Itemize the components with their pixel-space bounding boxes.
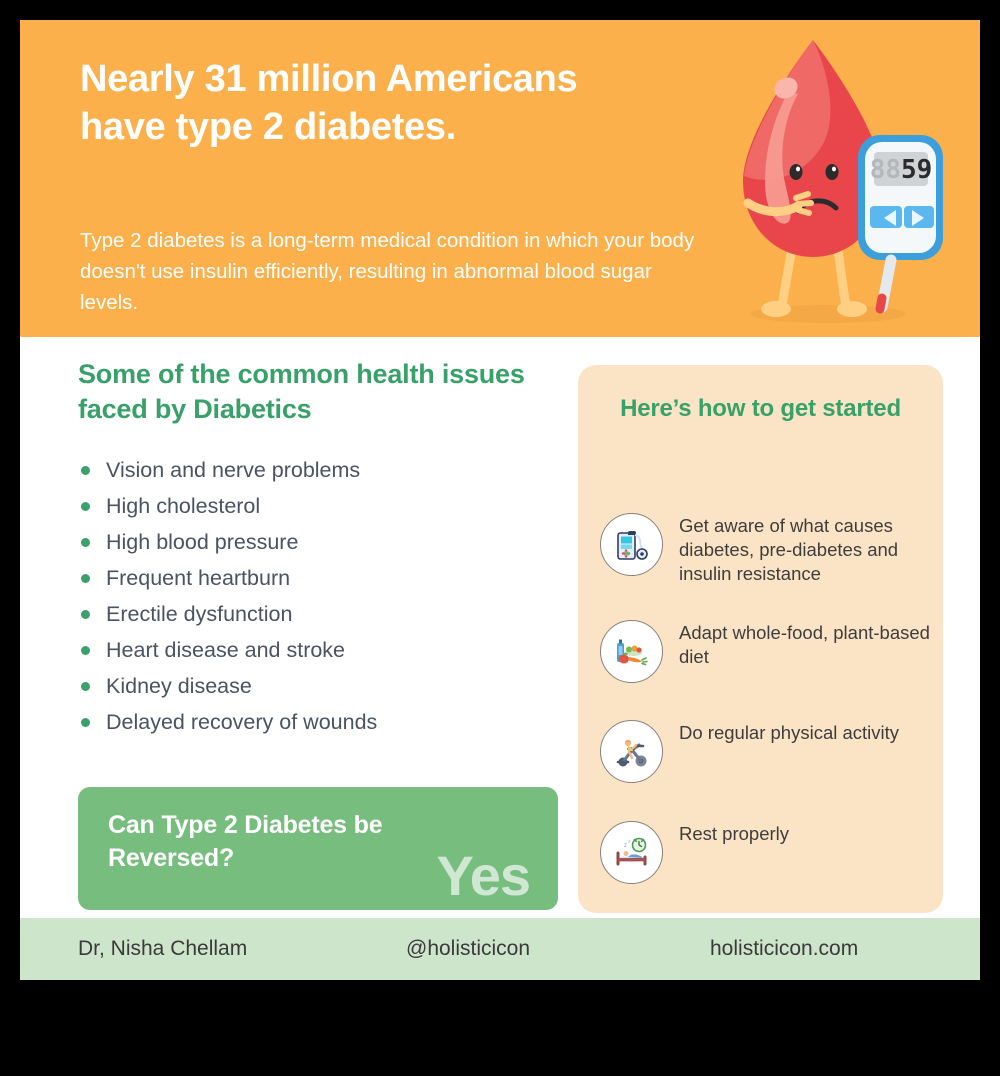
common-issues-section: Some of the common health issues faced b… (78, 357, 578, 740)
exercise-bike-icon (600, 720, 663, 783)
list-item: Do regular physical activity (600, 720, 930, 783)
step-label: Rest properly (679, 821, 789, 846)
list-item-label: Heart disease and stroke (106, 638, 345, 662)
list-item: Kidney disease (78, 668, 578, 704)
list-item-label: Kidney disease (106, 674, 252, 698)
svg-text:z: z (628, 839, 631, 845)
list-item-label: Frequent heartburn (106, 566, 290, 590)
list-item: Delayed recovery of wounds (78, 704, 578, 740)
step-label: Get aware of what causes diabetes, pre-d… (679, 513, 930, 586)
bullet-dot-icon (81, 502, 90, 511)
footer-social-handle[interactable]: @holisticicon (406, 937, 530, 961)
list-item: z z Rest properly (600, 821, 930, 884)
footer-bar: Dr, Nisha Chellam @holisticicon holistic… (20, 918, 980, 980)
get-started-panel: Here’s how to get started (578, 365, 943, 913)
vegetables-water-icon (600, 620, 663, 683)
bullet-dot-icon (81, 718, 90, 727)
bullet-dot-icon (81, 682, 90, 691)
list-item: Heart disease and stroke (78, 632, 578, 668)
page-title: Nearly 31 million Americans have type 2 … (80, 55, 640, 152)
list-item: Erectile dysfunction (78, 596, 578, 632)
header-banner: Nearly 31 million Americans have type 2 … (20, 20, 980, 337)
list-item-label: High cholesterol (106, 494, 260, 518)
issues-list: Vision and nerve problems High cholester… (78, 452, 578, 740)
blood-drop-character-illustration: 8859 (710, 26, 980, 337)
sleeping-person-clock-icon: z z (600, 821, 663, 884)
bullet-dot-icon (81, 574, 90, 583)
list-item: Frequent heartburn (78, 560, 578, 596)
glucose-monitor-icon (600, 513, 663, 576)
list-item: High blood pressure (78, 524, 578, 560)
header-subtitle: Type 2 diabetes is a long-term medical c… (80, 225, 710, 318)
bullet-dot-icon (81, 610, 90, 619)
step-label: Adapt whole-food, plant-based diet (679, 620, 930, 669)
bullet-dot-icon (81, 646, 90, 655)
list-item-label: High blood pressure (106, 530, 298, 554)
list-item: Adapt whole-food, plant-based diet (600, 620, 930, 683)
footer-author: Dr, Nisha Chellam (78, 937, 247, 961)
list-item-label: Erectile dysfunction (106, 602, 292, 626)
svg-text:z: z (624, 843, 627, 849)
infographic-card: Nearly 31 million Americans have type 2 … (20, 20, 980, 980)
panel-heading-get-started: Here’s how to get started (608, 393, 913, 425)
reversal-answer: Yes (436, 848, 530, 904)
reversal-callout-box: Can Type 2 Diabetes be Reversed? Yes (78, 787, 558, 910)
section-heading-issues: Some of the common health issues faced b… (78, 357, 538, 427)
step-label: Do regular physical activity (679, 720, 899, 745)
list-item-label: Vision and nerve problems (106, 458, 360, 482)
list-item: Get aware of what causes diabetes, pre-d… (600, 513, 930, 586)
bullet-dot-icon (81, 466, 90, 475)
svg-text:8859: 8859 (870, 155, 933, 185)
list-item-label: Delayed recovery of wounds (106, 710, 377, 734)
bullet-dot-icon (81, 538, 90, 547)
list-item: Vision and nerve problems (78, 452, 578, 488)
list-item: High cholesterol (78, 488, 578, 524)
footer-website[interactable]: holisticicon.com (710, 937, 858, 961)
reversal-question: Can Type 2 Diabetes be Reversed? (108, 809, 438, 874)
